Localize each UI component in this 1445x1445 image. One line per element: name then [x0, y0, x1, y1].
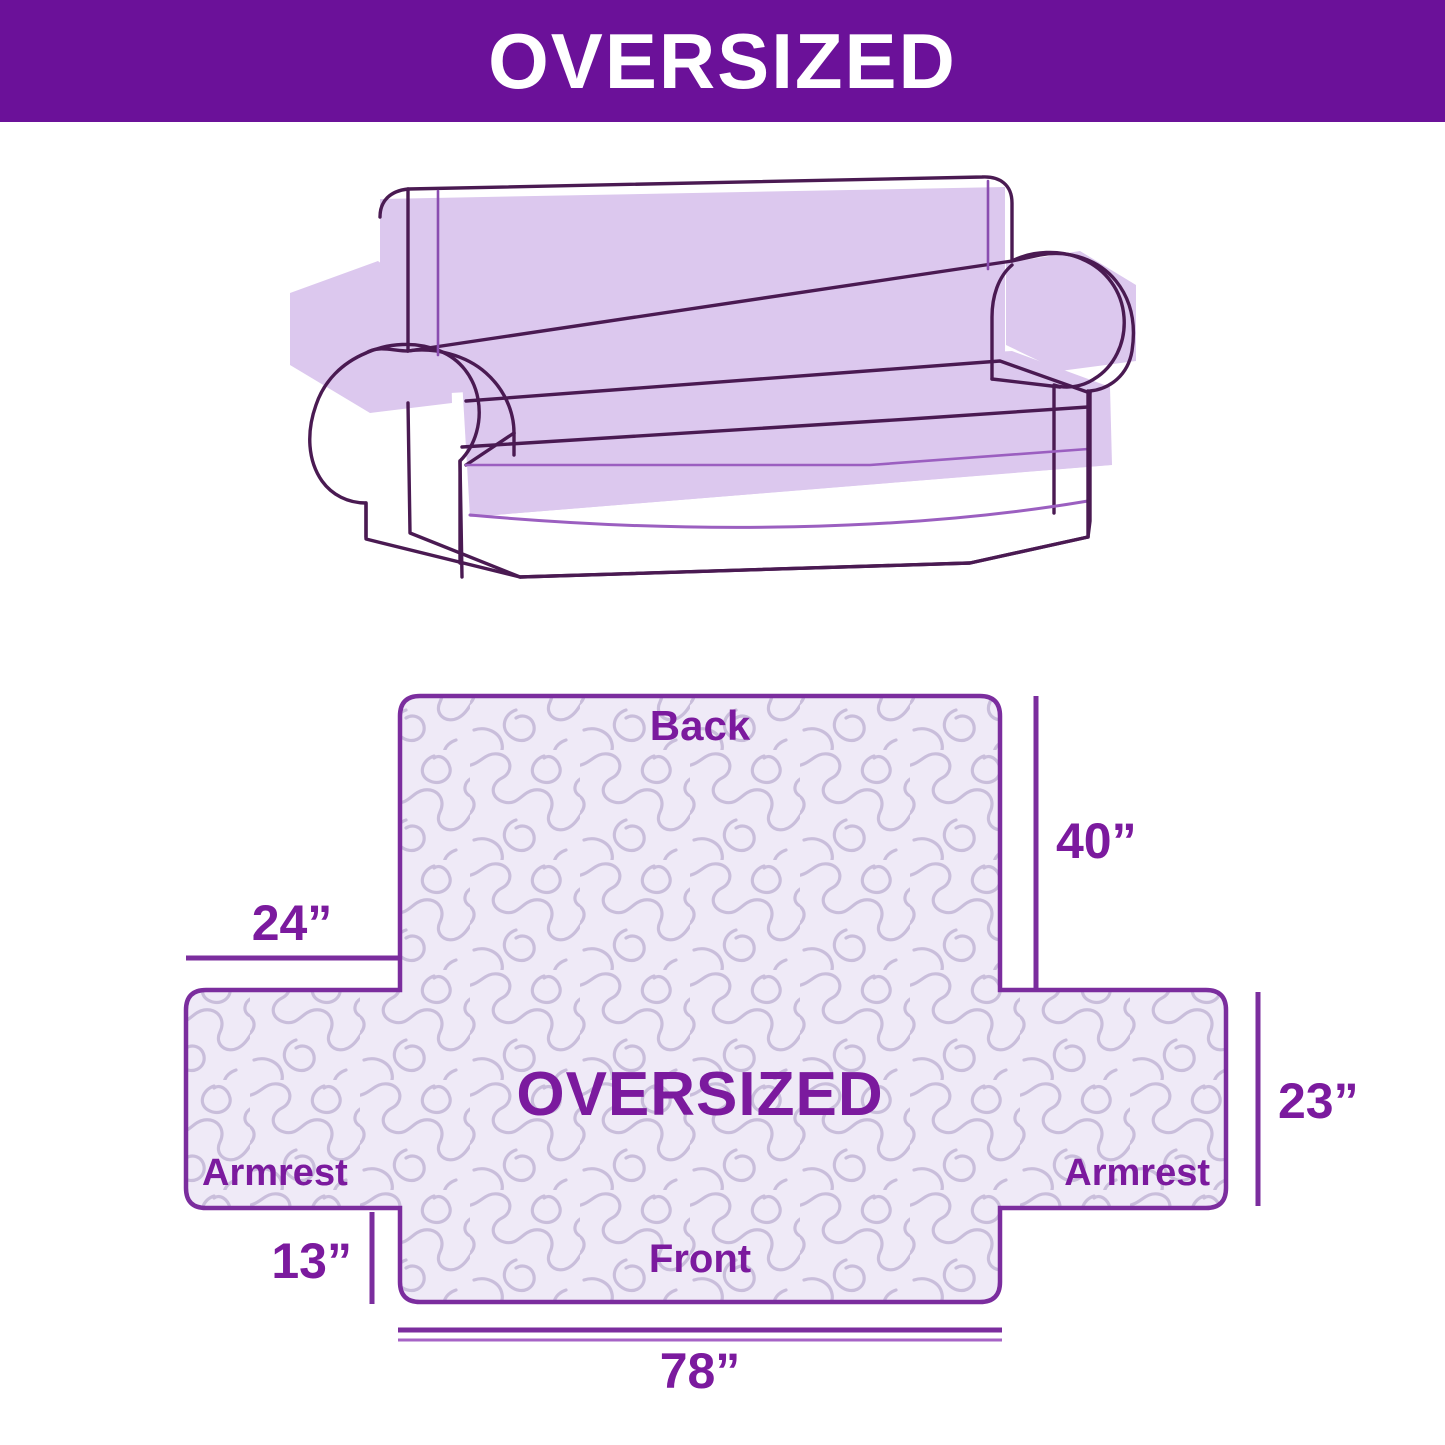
sofa-base-front — [520, 537, 1088, 577]
dimlabel-total-width: 78” — [660, 1343, 741, 1399]
pattern-diagram-svg: Back OVERSIZED Armrest Armrest Front 40”… — [140, 640, 1370, 1400]
sofa-skirt-fill — [468, 401, 1110, 517]
page-title: OVERSIZED — [488, 22, 957, 100]
label-armrest-left: Armrest — [202, 1152, 348, 1194]
sofa-illustration — [270, 165, 1200, 635]
dimlabel-armrest-depth: 23” — [1278, 1073, 1359, 1129]
header-banner: OVERSIZED — [0, 0, 1445, 122]
label-armrest-right: Armrest — [1064, 1152, 1210, 1194]
sofa-drawing-svg — [270, 165, 1200, 635]
dimlabel-back-height: 40” — [1056, 813, 1137, 869]
dimlabel-back-offset: 24” — [252, 895, 333, 951]
dimlabel-front-offset: 13” — [271, 1233, 352, 1289]
label-front: Front — [649, 1237, 751, 1281]
pattern-diagram: Back OVERSIZED Armrest Armrest Front 40”… — [140, 640, 1370, 1400]
label-oversized-center: OVERSIZED — [516, 1060, 883, 1129]
sofa-left-arm-pad — [460, 461, 462, 577]
label-back: Back — [650, 702, 751, 749]
product-size-infographic: OVERSIZED — [0, 0, 1445, 1445]
